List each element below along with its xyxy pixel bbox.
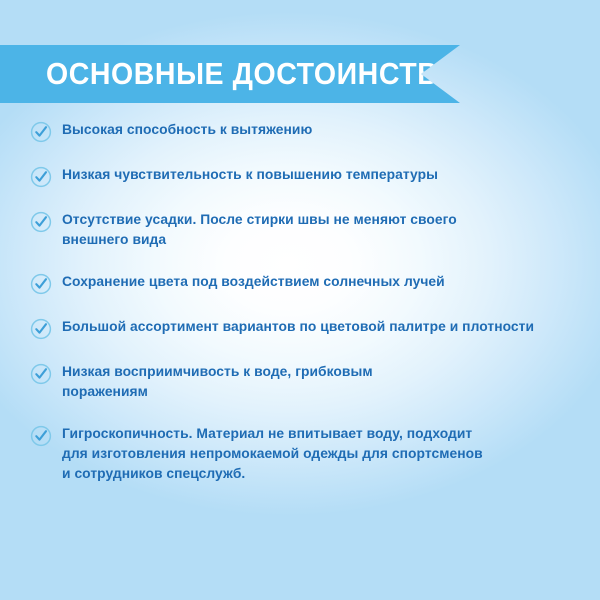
list-item-label: Низкая восприимчивость к воде, грибковым…: [62, 362, 373, 402]
list-item-label: Низкая чувствительность к повышению темп…: [62, 165, 438, 185]
page-title: ОСНОВНЫЕ ДОСТОИНСТВА: [46, 56, 458, 92]
list-item: Высокая способность к вытяжению: [30, 120, 582, 143]
check-circle-icon: [30, 211, 52, 233]
check-circle-icon: [30, 121, 52, 143]
benefits-list: Высокая способность к вытяжению Низкая ч…: [30, 120, 582, 484]
list-item-label: Большой ассортимент вариантов по цветово…: [62, 317, 534, 337]
list-item: Отсутствие усадки. После стирки швы не м…: [30, 210, 582, 250]
list-item-label: Высокая способность к вытяжению: [62, 120, 312, 140]
banner-ribbon: ОСНОВНЫЕ ДОСТОИНСТВА: [0, 45, 460, 103]
check-circle-icon: [30, 166, 52, 188]
benefits-poster: ОСНОВНЫЕ ДОСТОИНСТВА Высокая способность…: [0, 0, 600, 600]
list-item: Большой ассортимент вариантов по цветово…: [30, 317, 582, 340]
check-circle-icon: [30, 363, 52, 385]
list-item-label: Гигроскопичность. Материал не впитывает …: [62, 424, 483, 484]
list-item: Сохранение цвета под воздействием солнеч…: [30, 272, 582, 295]
list-item-label: Отсутствие усадки. После стирки швы не м…: [62, 210, 457, 250]
check-circle-icon: [30, 425, 52, 447]
list-item: Низкая восприимчивость к воде, грибковым…: [30, 362, 582, 402]
check-circle-icon: [30, 318, 52, 340]
list-item: Гигроскопичность. Материал не впитывает …: [30, 424, 582, 484]
list-item: Низкая чувствительность к повышению темп…: [30, 165, 582, 188]
check-circle-icon: [30, 273, 52, 295]
list-item-label: Сохранение цвета под воздействием солнеч…: [62, 272, 445, 292]
